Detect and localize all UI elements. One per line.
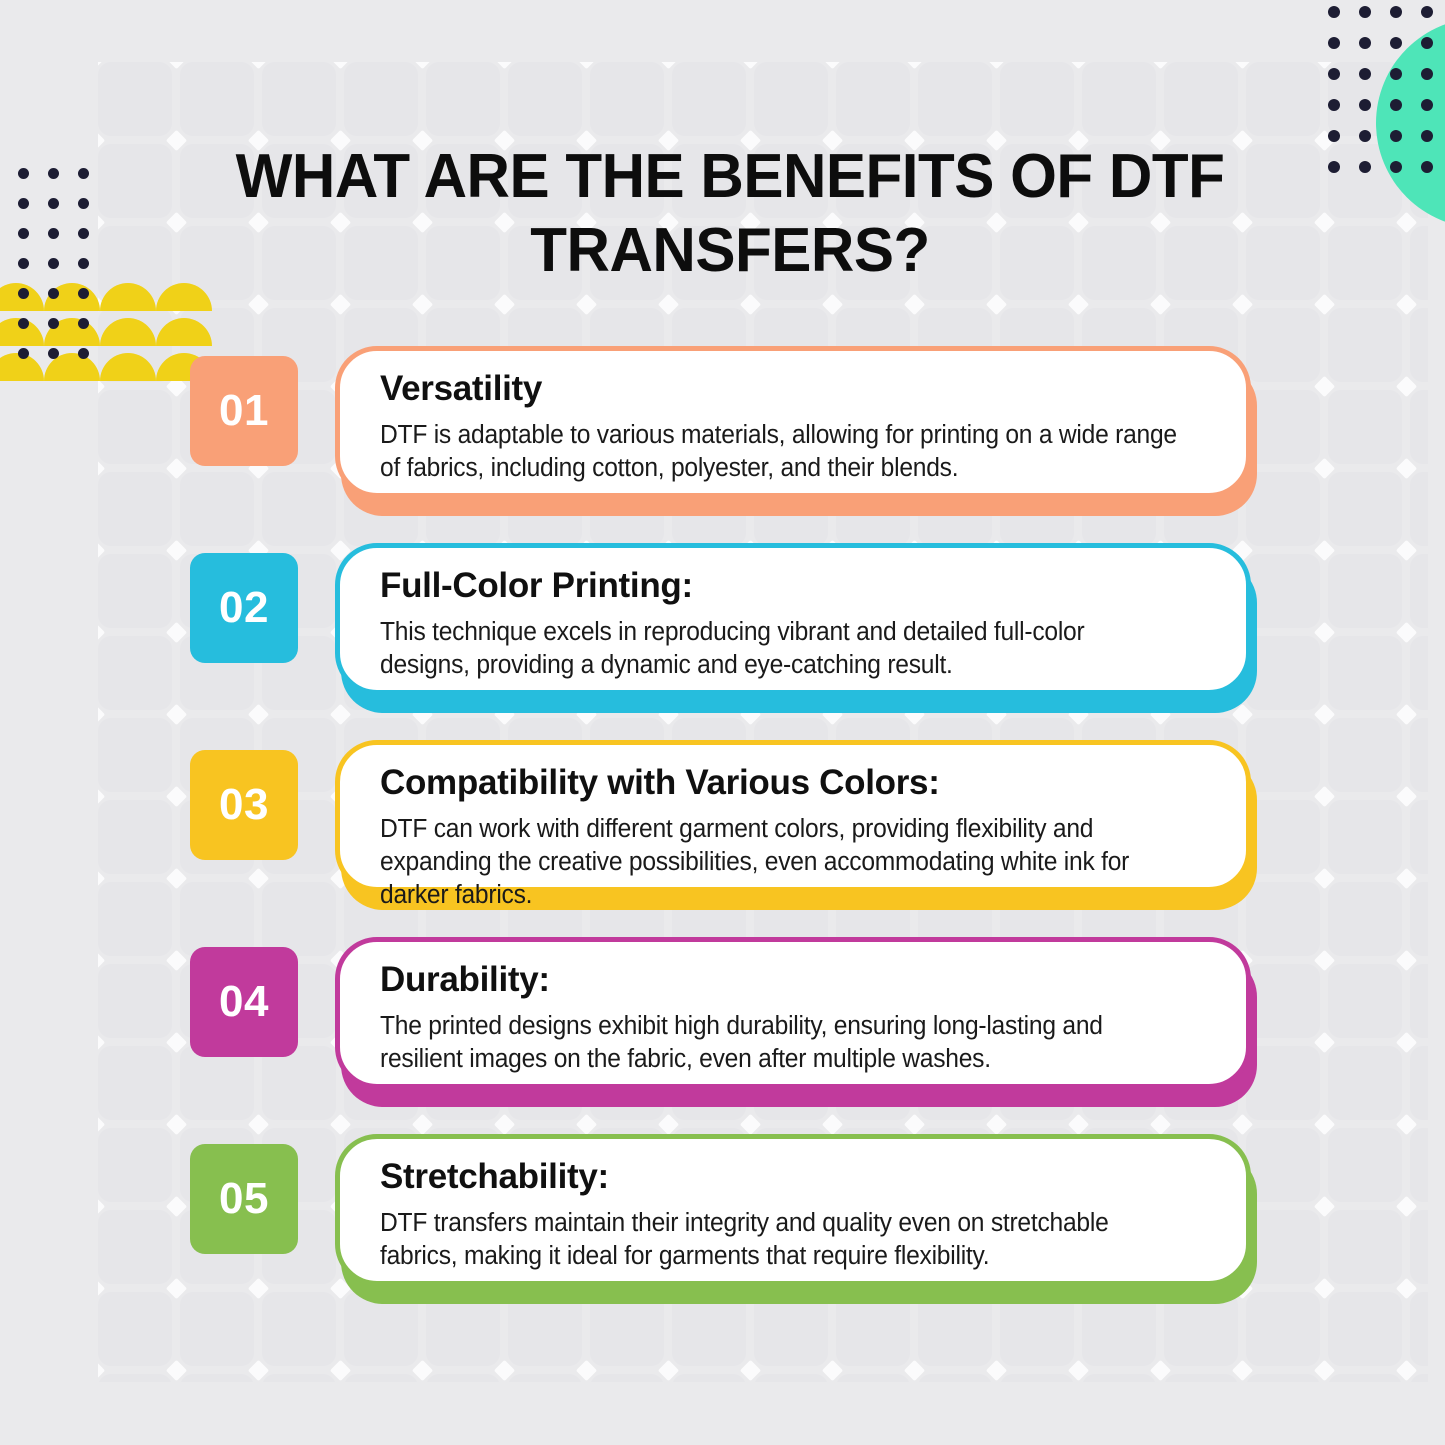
grid-tile [426, 62, 500, 136]
decorative-dot [48, 228, 59, 239]
decorative-dot [78, 168, 89, 179]
grid-tile [672, 62, 746, 136]
grid-tile [1246, 1292, 1320, 1366]
card-panel: Compatibility with Various Colors:DTF ca… [335, 740, 1251, 892]
grid-tile [1328, 1374, 1402, 1382]
decorative-dot [18, 198, 29, 209]
decorative-dot [48, 198, 59, 209]
grid-tile [1082, 1374, 1156, 1382]
decorative-dot [48, 168, 59, 179]
grid-tile [1246, 144, 1320, 218]
card-body-text: This technique excels in reproducing vib… [380, 616, 1177, 682]
decorative-dot [1359, 37, 1371, 49]
benefit-card-03[interactable]: 03Compatibility with Various Colors:DTF … [0, 736, 1445, 906]
benefit-card-05[interactable]: 05Stretchability:DTF transfers maintain … [0, 1130, 1445, 1300]
card-title: Full-Color Printing: [380, 564, 1206, 608]
card-body-text: DTF is adaptable to various materials, a… [380, 419, 1177, 485]
infographic-canvas: WHAT ARE THE BENEFITS OF DTF TRANSFERS? … [0, 0, 1445, 1445]
right-dot-grid-decoration [1328, 6, 1438, 176]
page-title: WHAT ARE THE BENEFITS OF DTF TRANSFERS? [206, 140, 1254, 288]
grid-tile [672, 1374, 746, 1382]
card-panel: Full-Color Printing:This technique excel… [335, 543, 1251, 695]
decorative-dot [1421, 161, 1433, 173]
grid-tile [1164, 1374, 1238, 1382]
decorative-dot [18, 318, 29, 329]
grid-tile [262, 62, 336, 136]
card-title: Versatility [380, 367, 1206, 411]
card-number-badge: 01 [190, 356, 298, 466]
grid-tile [1410, 1374, 1428, 1382]
card-title: Durability: [380, 958, 1206, 1002]
decorative-dot [78, 228, 89, 239]
decorative-dot [1359, 6, 1371, 18]
grid-tile [590, 62, 664, 136]
card-number-badge: 05 [190, 1144, 298, 1254]
decorative-dot [1359, 130, 1371, 142]
card-number-badge: 04 [190, 947, 298, 1057]
decorative-dot [1359, 99, 1371, 111]
decorative-dot [78, 258, 89, 269]
grid-tile [590, 1374, 664, 1382]
card-body-text: DTF transfers maintain their integrity a… [380, 1207, 1177, 1273]
grid-tile [262, 1292, 336, 1366]
grid-tile [1000, 1374, 1074, 1382]
grid-tile [1246, 62, 1320, 136]
decorative-dot [48, 288, 59, 299]
grid-tile [344, 1374, 418, 1382]
card-panel: Stretchability:DTF transfers maintain th… [335, 1134, 1251, 1286]
decorative-dot [1390, 130, 1402, 142]
grid-tile [344, 62, 418, 136]
decorative-dot [1390, 68, 1402, 80]
decorative-dot [78, 288, 89, 299]
decorative-dot [1359, 161, 1371, 173]
decorative-dot [18, 228, 29, 239]
decorative-dot [1328, 6, 1340, 18]
card-number-badge: 03 [190, 750, 298, 860]
grid-tile [918, 62, 992, 136]
decorative-dot [1328, 130, 1340, 142]
decorative-dot [1421, 99, 1433, 111]
grid-tile [918, 1374, 992, 1382]
grid-tile [508, 62, 582, 136]
card-body-text: The printed designs exhibit high durabil… [380, 1010, 1177, 1076]
grid-tile [262, 1374, 336, 1382]
decorative-dot [78, 318, 89, 329]
grid-tile [1082, 62, 1156, 136]
decorative-dot [1421, 68, 1433, 80]
grid-tile [1164, 62, 1238, 136]
decorative-dot [1359, 68, 1371, 80]
benefit-card-04[interactable]: 04Durability:The printed designs exhibit… [0, 933, 1445, 1103]
card-number-badge: 02 [190, 553, 298, 663]
card-title: Compatibility with Various Colors: [380, 761, 1206, 805]
grid-tile [180, 1292, 254, 1366]
decorative-dot [1421, 130, 1433, 142]
decorative-dot [1328, 99, 1340, 111]
grid-tile [836, 1374, 910, 1382]
card-panel: Durability:The printed designs exhibit h… [335, 937, 1251, 1089]
benefit-card-02[interactable]: 02Full-Color Printing:This technique exc… [0, 539, 1445, 709]
grid-tile [1410, 226, 1428, 300]
decorative-dot [1390, 6, 1402, 18]
grid-tile [98, 62, 172, 136]
grid-tile [1328, 226, 1402, 300]
decorative-dot [18, 288, 29, 299]
card-body-text: DTF can work with different garment colo… [380, 813, 1177, 912]
grid-tile [754, 1374, 828, 1382]
decorative-dot [1390, 99, 1402, 111]
grid-tile [180, 62, 254, 136]
grid-tile [98, 144, 172, 218]
decorative-dot [1328, 37, 1340, 49]
semicircle-shape [100, 283, 156, 311]
grid-tile [508, 1374, 582, 1382]
decorative-dot [18, 258, 29, 269]
grid-tile [98, 1292, 172, 1366]
grid-tile [98, 1374, 172, 1382]
decorative-dot [1328, 68, 1340, 80]
decorative-dot [48, 318, 59, 329]
decorative-dot [1421, 6, 1433, 18]
left-dot-grid-decoration [18, 168, 104, 368]
decorative-dot [1390, 161, 1402, 173]
decorative-dot [1328, 161, 1340, 173]
grid-tile [180, 1374, 254, 1382]
grid-tile [426, 1374, 500, 1382]
decorative-dot [18, 168, 29, 179]
decorative-dot [1421, 37, 1433, 49]
grid-tile [1000, 62, 1074, 136]
grid-tile [754, 62, 828, 136]
decorative-dot [48, 258, 59, 269]
benefit-card-01[interactable]: 01VersatilityDTF is adaptable to various… [0, 342, 1445, 512]
decorative-dot [1390, 37, 1402, 49]
grid-tile [1246, 1374, 1320, 1382]
grid-tile [1328, 1292, 1402, 1366]
card-title: Stretchability: [380, 1155, 1206, 1199]
grid-tile [1410, 1292, 1428, 1366]
grid-tile [1246, 226, 1320, 300]
card-panel: VersatilityDTF is adaptable to various m… [335, 346, 1251, 498]
decorative-dot [78, 198, 89, 209]
grid-tile [836, 62, 910, 136]
